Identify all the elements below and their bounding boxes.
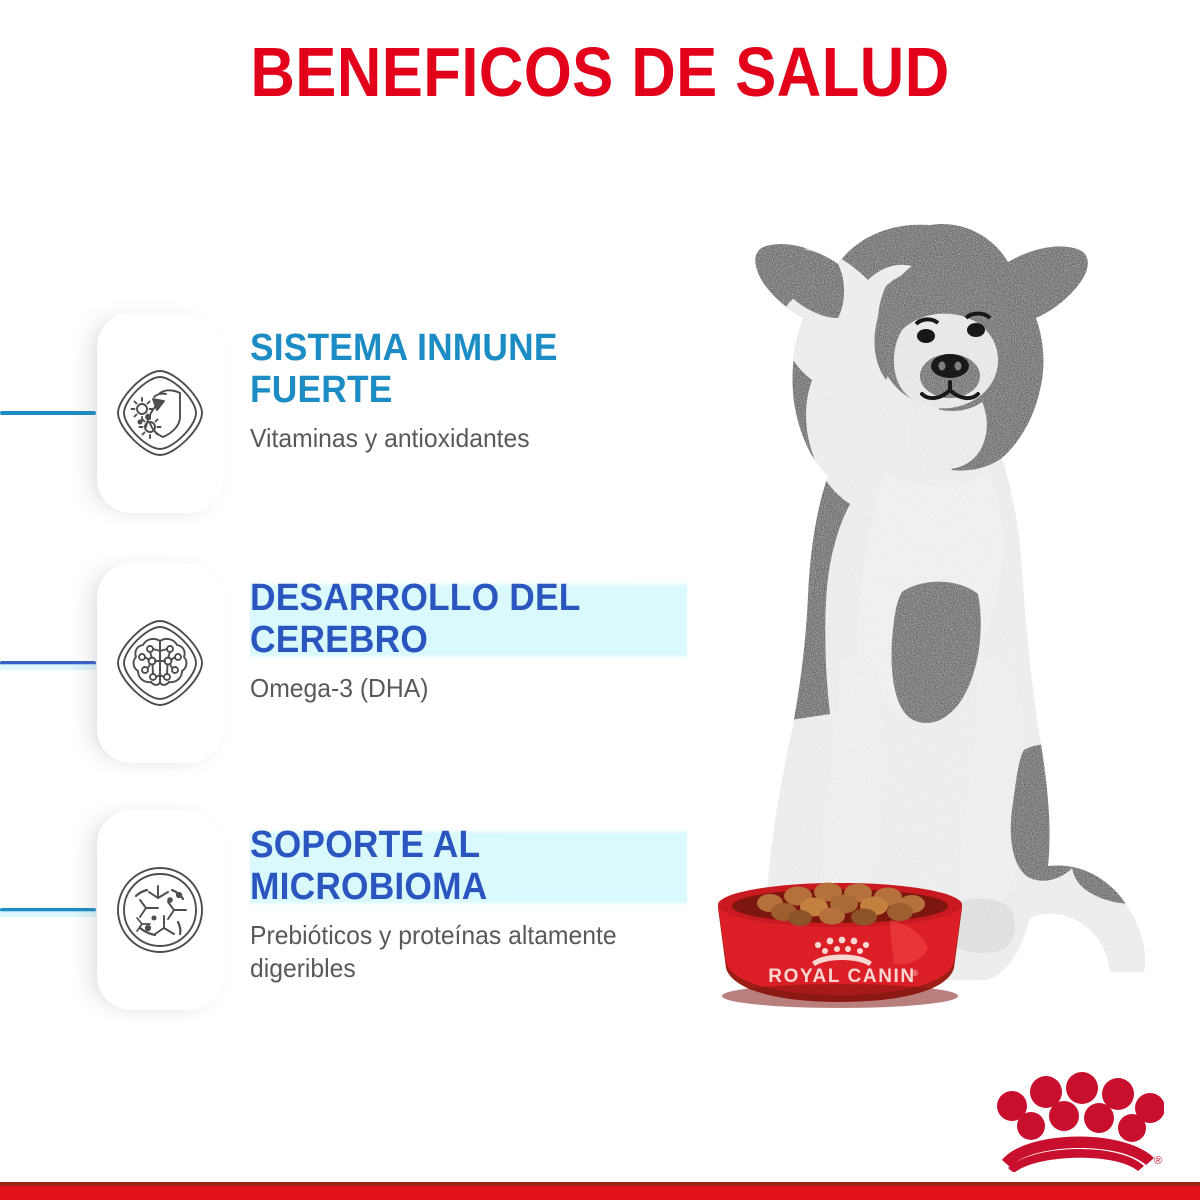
crown-dots — [997, 1072, 1164, 1142]
icon-card-immune — [97, 313, 223, 513]
bottom-red-bar — [0, 1182, 1200, 1200]
icon-card-brain — [97, 563, 223, 763]
benefit-row-microbiome: SOPORTE AL MICROBIOMA Prebióticos y prot… — [0, 810, 720, 1010]
microbiome-icon — [112, 862, 208, 958]
benefit-subtitle-microbiome: Prebióticos y proteínas altamente digeri… — [250, 919, 697, 985]
logo-registered-mark: ® — [1154, 1155, 1162, 1167]
brain-icon — [112, 615, 208, 711]
german-shepherd-puppy-photo: ROYAL CANIN ® — [640, 190, 1200, 1100]
page-title: BENEFICOS DE SALUD — [72, 34, 1128, 110]
benefit-heading-immune: SISTEMA INMUNE FUERTE — [250, 327, 687, 411]
icon-card-microbiome — [97, 810, 223, 1010]
connector-line-microbiome — [0, 908, 96, 912]
benefit-heading-brain: DESARROLLO DEL CEREBRO — [250, 577, 687, 661]
immune-shield-icon — [112, 365, 208, 461]
royal-canin-dog-bowl: ROYAL CANIN ® — [718, 883, 962, 1009]
benefit-subtitle-brain: Omega-3 (DHA) — [250, 672, 697, 705]
benefit-subtitle-immune: Vitaminas y antioxidantes — [250, 422, 697, 455]
bowl-brand-text: ROYAL CANIN — [768, 966, 915, 987]
connector-line-brain — [0, 661, 96, 665]
benefit-heading-microbiome: SOPORTE AL MICROBIOMA — [250, 824, 687, 908]
bowl-registered-mark: ® — [912, 969, 918, 978]
poster-page: BENEFICOS DE SALUD — [0, 0, 1200, 1200]
connector-line-immune — [0, 411, 96, 415]
benefit-row-brain: DESARROLLO DEL CEREBRO Omega-3 (DHA) — [0, 563, 720, 763]
benefit-row-immune: SISTEMA INMUNE FUERTE Vitaminas y antiox… — [0, 313, 720, 513]
royal-canin-crown-logo: ® — [984, 1064, 1164, 1172]
